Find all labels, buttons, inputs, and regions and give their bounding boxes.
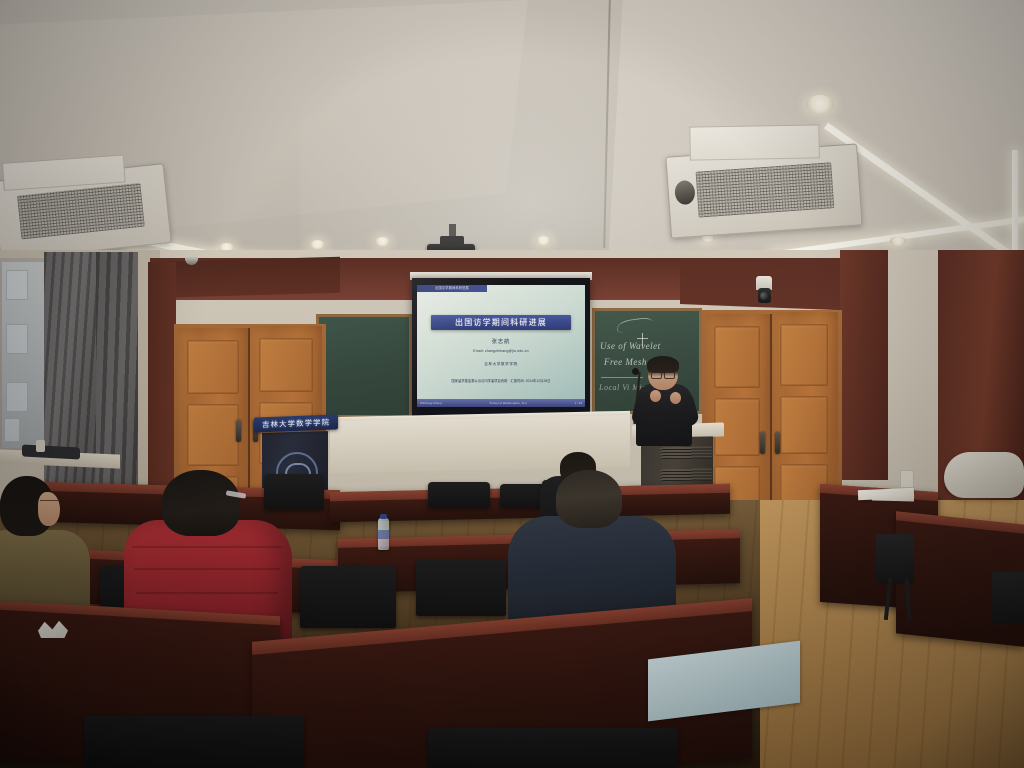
downlight-icon (310, 240, 325, 249)
slide-status-center: School of Mathematics, JLU (489, 401, 526, 405)
slide-header-tab-label: 出国访学期间科研进展 (417, 285, 487, 292)
ac-louver-panel (689, 124, 820, 160)
slide-header-tab: 出国访学期间科研进展 (417, 285, 487, 292)
chair[interactable] (416, 560, 506, 616)
wall-switch-plate[interactable] (900, 470, 914, 488)
presenter-hand (650, 390, 661, 402)
ac-corner-vent (674, 180, 696, 205)
chalkboard-left (316, 314, 412, 418)
window-pane (6, 270, 28, 300)
window-pane (4, 418, 20, 442)
slide-status-bar: Zhizhang Zhang School of Mathematics, JL… (417, 399, 585, 407)
projection-screen: 出国访学期间科研进展 出国访学期间科研进展 张志航 Email: zhangzh… (412, 278, 590, 416)
papers-on-desk (872, 493, 914, 501)
jacket-seam (132, 546, 282, 548)
door-handle[interactable] (236, 420, 241, 442)
wood-wall-band-left (150, 257, 340, 298)
slide-footnote: 国家留学基金委公派访问学者项目资助 · 汇报时间: 2024年12月28日 (417, 378, 585, 383)
downlight-icon (375, 237, 390, 246)
door-panel (714, 326, 760, 388)
door-panel (780, 396, 828, 454)
slide-status-left: Zhizhang Zhang (420, 401, 442, 405)
chalkboard-line-2: Free Mesh (604, 357, 647, 367)
wood-wall-panel-right (840, 250, 888, 480)
podium-sign: 吉林大学数学学院 (254, 414, 338, 432)
door-handle[interactable] (760, 432, 765, 454)
chair[interactable] (264, 474, 324, 510)
presenter-hand (670, 392, 681, 404)
door-panel (187, 404, 239, 466)
wood-wall-panel-left (148, 262, 176, 510)
ac-grille (695, 162, 834, 217)
white-bag (944, 452, 1024, 498)
chair[interactable] (428, 728, 678, 768)
downlight-icon (890, 236, 906, 246)
jacket-seam (134, 568, 280, 570)
glasses-icon (651, 371, 675, 377)
chair[interactable] (428, 482, 490, 508)
window-pane (6, 324, 28, 354)
door-panel (780, 324, 828, 386)
chalk-plus-sign (637, 338, 648, 339)
camera-lens-icon (760, 292, 768, 300)
side-chair[interactable] (876, 534, 914, 584)
audience-face (38, 492, 60, 526)
ceiling-ac-unit (665, 143, 862, 238)
window-pane (6, 382, 28, 412)
chair[interactable] (300, 566, 396, 628)
chair[interactable] (84, 716, 304, 768)
audience-head (556, 470, 622, 528)
audience-head (162, 470, 240, 536)
podium-sign-label: 吉林大学数学学院 (262, 417, 330, 431)
chalk-underline (601, 377, 643, 378)
bottle-label (378, 530, 389, 539)
door-panel (259, 338, 313, 392)
downlight-icon (806, 95, 834, 114)
presentation-slide: 出国访学期间科研进展 出国访学期间科研进展 张志航 Email: zhangzh… (417, 285, 585, 407)
lecture-hall-photo: Use of Wavelet Free Mesh Local Vi Mim 出国… (0, 0, 1024, 768)
side-chair[interactable] (992, 572, 1024, 624)
bottle-cap (380, 514, 387, 519)
chalk-squiggle (616, 316, 653, 334)
glasses-icon (40, 500, 58, 505)
door-panel (187, 340, 239, 394)
lectern-vent (660, 446, 712, 459)
chalkboard-line-1: Use of Wavelet (600, 341, 661, 351)
microphone-icon (632, 368, 639, 375)
slide-title-banner: 出国访学期间科研进展 (431, 315, 571, 330)
door-handle[interactable] (775, 432, 780, 454)
slide-organization: 吉林大学数学学院 (417, 362, 585, 367)
slide-status-right: 1 / 18 (574, 401, 582, 405)
slide-email: Email: zhangzhihang@jlu.edu.cn (417, 349, 585, 353)
downlight-icon (536, 236, 551, 245)
lectern-vent (660, 468, 712, 481)
slide-title: 出国访学期间科研进展 (455, 317, 547, 328)
ac-grille (17, 183, 145, 240)
jacket-seam (136, 592, 278, 594)
items-on-sill (36, 440, 45, 452)
slide-author: 张志航 (417, 338, 585, 345)
